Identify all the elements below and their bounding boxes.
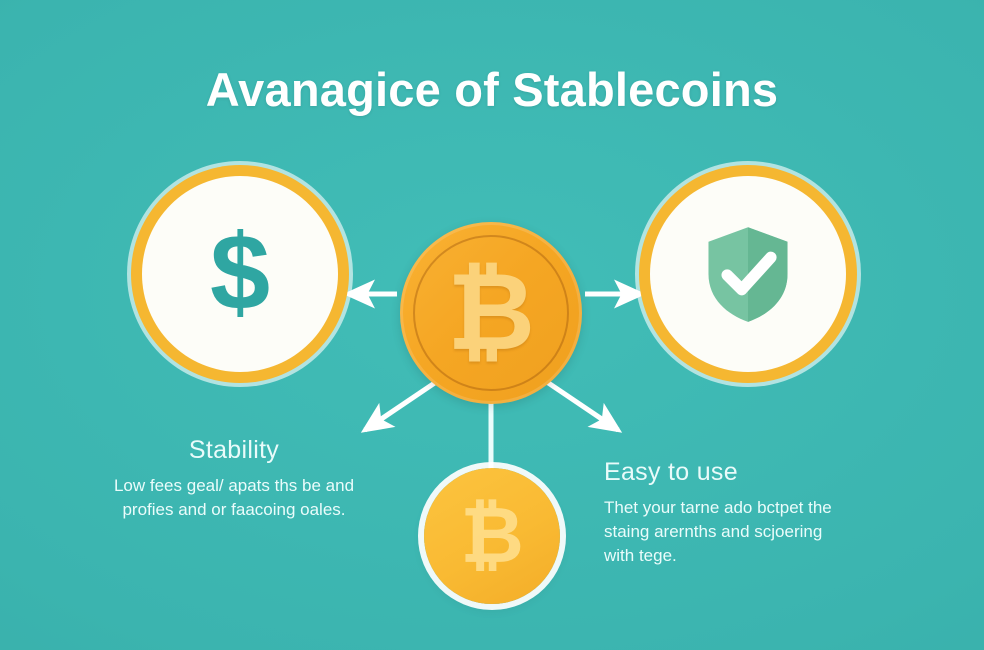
caption-stability-line-1: Low fees geal/ apats ths be and [84, 474, 384, 498]
caption-easy-to-use-heading: Easy to use [604, 458, 904, 487]
caption-easy-to-use-body: Thet your tarne ado bctpet the staing ar… [604, 496, 904, 568]
caption-stability-line-2: profies and or faacoing oales. [84, 498, 384, 522]
infographic-canvas: Avanagice of Stablecoins $ ₿ [0, 0, 984, 650]
caption-easy-to-use-line-2: staing arernths and scjoering [604, 520, 904, 544]
bitcoin-coin-icon: ₿ [460, 496, 524, 574]
node-dollar: $ [142, 176, 338, 372]
caption-stability-heading: Stability [84, 436, 384, 465]
node-bitcoin-center: ₿ [400, 222, 582, 404]
caption-stability: Stability Low fees geal/ apats ths be an… [84, 436, 384, 522]
node-shield [650, 176, 846, 372]
caption-easy-to-use-line-3: with tege. [604, 544, 904, 568]
caption-easy-to-use: Easy to use Thet your tarne ado bctpet t… [604, 458, 904, 568]
arrow-center-to-lower-right [541, 378, 618, 430]
caption-stability-body: Low fees geal/ apats ths be and profies … [84, 474, 384, 522]
caption-easy-to-use-line-1: Thet your tarne ado bctpet the [604, 496, 904, 520]
node-bitcoin-bottom: ₿ [424, 468, 560, 604]
dollar-sign-icon: $ [210, 218, 270, 326]
arrow-center-to-lower-left [365, 378, 442, 430]
shield-check-icon [696, 222, 800, 326]
bitcoin-coin-icon: ₿ [447, 258, 535, 366]
